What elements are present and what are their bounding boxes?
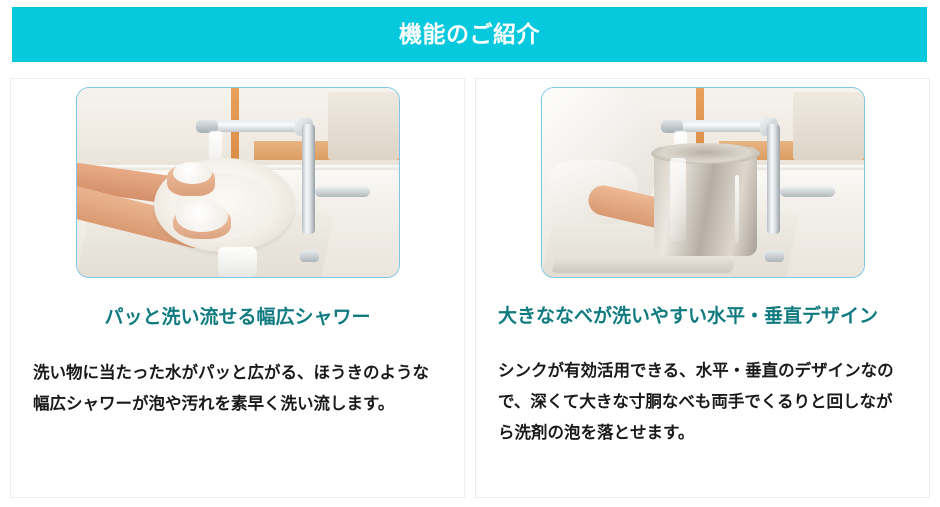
faucet-column xyxy=(302,124,315,234)
feature-body-right: シンクが有効活用できる、水平・垂直のデザインなので、深くて大きな寸胴なべも両手で… xyxy=(498,355,907,448)
faucet-column xyxy=(767,124,780,234)
feature-card-list: パッと洗い流せる幅広シャワー 洗い物に当たった水がパッと広がる、ほうきのような幅… xyxy=(10,78,930,498)
faucet-base xyxy=(765,250,784,262)
feature-headline-left: パッと洗い流せる幅広シャワー xyxy=(25,303,450,333)
feature-card-wide-shower: パッと洗い流せる幅広シャワー 洗い物に当たった水がパッと広がる、ほうきのような幅… xyxy=(10,78,465,498)
pot-water-drip xyxy=(735,175,739,243)
foam-upper xyxy=(173,162,212,185)
water-runoff xyxy=(218,247,257,277)
foam-lower xyxy=(176,201,228,231)
page-title: 機能のご紹介 xyxy=(399,23,540,46)
pot-rim xyxy=(651,143,760,164)
sink-front-lip xyxy=(552,256,738,273)
feature-image-large-pot xyxy=(541,87,865,278)
kitchen-scene-right xyxy=(542,88,864,277)
photo-wrapper-right xyxy=(476,79,929,278)
feature-body-left: 洗い物に当たった水がパッと広がる、ほうきのような幅広シャワーが泡や汚れを素早く洗… xyxy=(33,357,440,419)
background-cabinet xyxy=(328,92,399,160)
feature-introduction-page: 機能のご紹介 xyxy=(0,0,940,507)
pot-highlight xyxy=(670,158,686,241)
feature-headline-right: 大きななべが洗いやすい水平・垂直デザイン xyxy=(498,302,907,332)
faucet-lever-handle xyxy=(780,186,835,197)
feature-card-horizontal-vertical-design: 大きななべが洗いやすい水平・垂直デザイン シンクが有効活用できる、水平・垂直のデ… xyxy=(475,78,930,498)
faucet-base xyxy=(300,250,319,262)
feature-image-wide-shower xyxy=(76,87,400,278)
kitchen-scene-left xyxy=(77,88,399,277)
background-cabinet xyxy=(793,92,864,160)
section-banner: 機能のご紹介 xyxy=(12,7,927,62)
faucet-lever-handle xyxy=(315,186,370,197)
photo-wrapper-left xyxy=(11,79,464,278)
